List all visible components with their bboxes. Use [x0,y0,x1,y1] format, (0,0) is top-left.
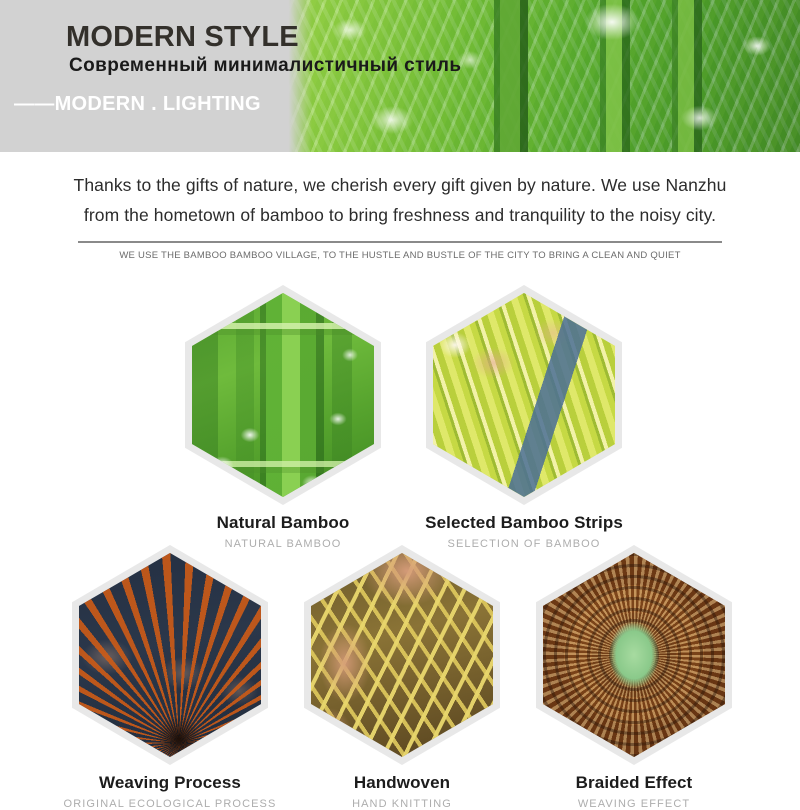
yellow-bamboo-strips-photo [433,293,615,497]
process-step-weaving-process[interactable]: Weaving Process ORIGINAL ECOLOGICAL PROC… [55,545,285,810]
hexagon-frame [185,285,381,505]
process-step-handwoven[interactable]: Handwoven HAND KNITTING [287,545,517,810]
hexagon-image-clip [433,293,615,497]
hexagon-frame [536,545,732,765]
process-hexagon-grid: Natural Bamboo NATURAL BAMBOO Selected B… [0,0,800,800]
hexagon-image-clip [311,553,493,757]
green-bamboo-culms-photo [192,293,374,497]
step-title: Weaving Process [55,773,285,793]
hexagon-image-clip [192,293,374,497]
step-title: Braided Effect [519,773,749,793]
process-step-selected-bamboo-strips[interactable]: Selected Bamboo Strips SELECTION OF BAMB… [409,285,639,550]
hexagon-image-clip [79,553,261,757]
orange-spokes-weaving-photo [79,553,261,757]
process-step-natural-bamboo[interactable]: Natural Bamboo NATURAL BAMBOO [168,285,398,550]
hexagon-frame [72,545,268,765]
braided-lamp-shade-photo [543,553,725,757]
hexagon-image-clip [543,553,725,757]
hexagon-frame [304,545,500,765]
hand-lattice-weaving-photo [311,553,493,757]
step-title: Selected Bamboo Strips [409,513,639,533]
process-step-braided-effect[interactable]: Braided Effect WEAVING EFFECT [519,545,749,810]
step-title: Handwoven [287,773,517,793]
hexagon-frame [426,285,622,505]
step-title: Natural Bamboo [168,513,398,533]
